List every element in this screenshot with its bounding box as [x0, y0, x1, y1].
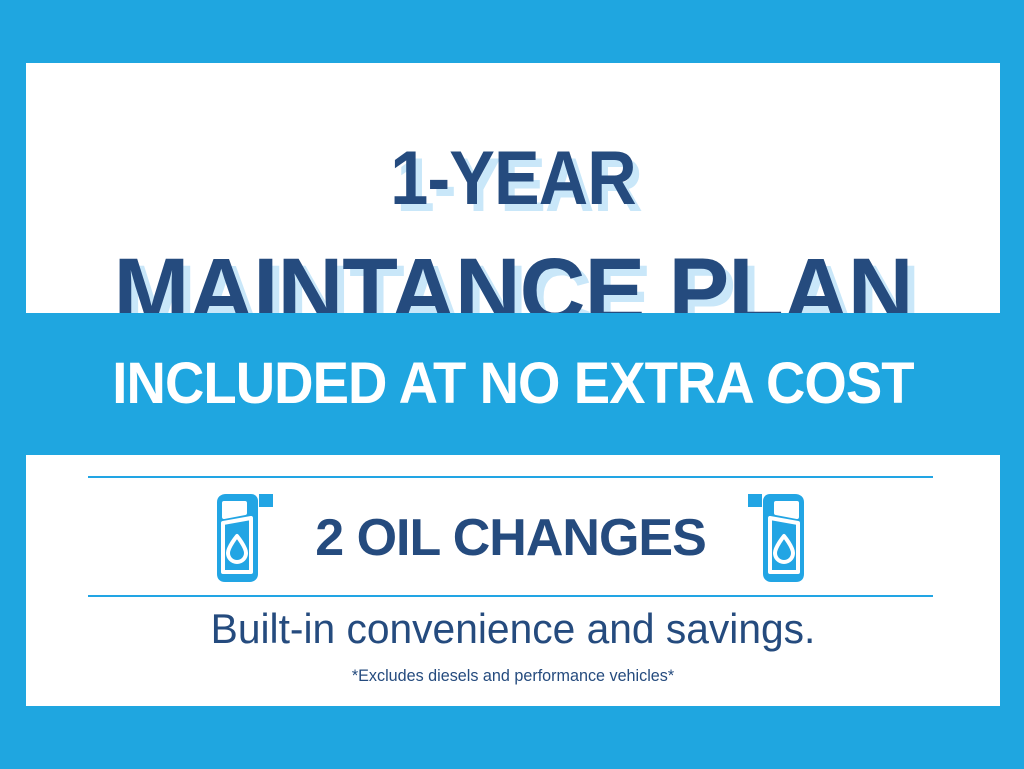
details-card: 2 OIL CHANGES Built-in convenience and s… [26, 455, 1000, 706]
headline-line-1: 1-YEAR [75, 141, 952, 217]
feature-label: 2 OIL CHANGES [315, 512, 706, 564]
promo-poster: 1-YEAR MAINTANCE PLAN INCLUDED AT NO EXT… [0, 0, 1024, 769]
headline-card: 1-YEAR MAINTANCE PLAN [26, 63, 1000, 313]
tagline-text: Built-in convenience and savings. [41, 607, 986, 651]
headline-line-2: MAINTANCE PLAN [31, 245, 995, 313]
divider-top [88, 476, 933, 478]
oil-jug-icon-left [207, 492, 281, 584]
oil-jug-icon-right [740, 492, 814, 584]
subtitle-band: INCLUDED AT NO EXTRA COST [26, 313, 1000, 455]
fineprint-text: *Excludes diesels and performance vehicl… [50, 667, 975, 685]
feature-row: 2 OIL CHANGES [88, 485, 933, 591]
subtitle-text: INCLUDED AT NO EXTRA COST [55, 355, 971, 413]
divider-bottom [88, 595, 933, 597]
